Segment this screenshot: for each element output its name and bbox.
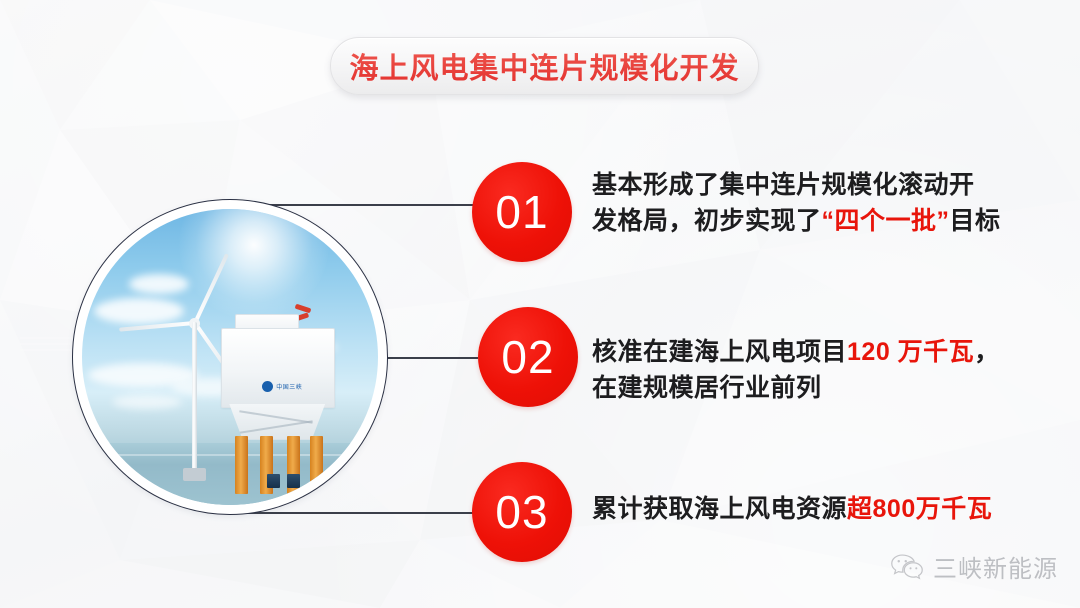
- plain-text: 基本形成了集中连片规模化滚动开: [592, 171, 975, 199]
- plain-text: 核准在建海上风电项目: [592, 338, 847, 366]
- page-title: 海上风电集中连片规模化开发: [349, 45, 739, 87]
- watermark: 三峡新能源: [890, 549, 1058, 584]
- wechat-icon: [890, 553, 924, 581]
- slide-title-pill: 海上风电集中连片规模化开发: [330, 37, 759, 95]
- offshore-wind-photo: 中国三峡: [72, 199, 388, 515]
- highlighted-text: 120 万千瓦: [847, 338, 974, 366]
- bullet-text-01: 基本形成了集中连片规模化滚动开发格局，初步实现了“四个一批”目标: [592, 168, 1001, 239]
- plain-text: 累计获取海上风电资源: [592, 495, 847, 523]
- connector-line-03: [232, 512, 477, 514]
- text-line: 累计获取海上风电资源超800万千瓦: [592, 492, 992, 528]
- plain-text: 在建规模居行业前列: [592, 374, 822, 402]
- text-line: 核准在建海上风电项目120 万千瓦，: [592, 335, 1000, 371]
- text-line: 基本形成了集中连片规模化滚动开: [592, 168, 1001, 204]
- slide-root: 海上风电集中连片规模化开发: [0, 0, 1080, 608]
- plain-text: 发格局，初步实现了: [592, 207, 822, 235]
- cloud-shape: [129, 274, 189, 294]
- bullet-text-02: 核准在建海上风电项目120 万千瓦，在建规模居行业前列: [592, 335, 1000, 406]
- plain-text: ，: [974, 338, 1000, 366]
- number-badge-01: 01: [472, 162, 572, 262]
- vessel-shape: [267, 474, 280, 488]
- offshore-platform: 中国三峡: [215, 304, 345, 484]
- logo-text: 中国三峡: [276, 382, 302, 391]
- bullet-text-03: 累计获取海上风电资源超800万千瓦: [592, 492, 992, 528]
- number-badge-02: 02: [478, 307, 578, 407]
- vessel-shape: [287, 474, 300, 488]
- number-badge-03: 03: [472, 462, 572, 562]
- logo-mark-icon: [262, 381, 273, 392]
- company-logo: 中国三峡: [262, 381, 302, 392]
- text-line: 发格局，初步实现了“四个一批”目标: [592, 204, 1001, 240]
- watermark-label: 三峡新能源: [933, 549, 1058, 584]
- plain-text: 目标: [950, 207, 1001, 235]
- badge-number: 03: [495, 489, 548, 535]
- connector-line-02: [378, 357, 478, 359]
- photo-canvas: 中国三峡: [82, 209, 378, 505]
- badge-number: 02: [501, 334, 554, 380]
- text-line: 在建规模居行业前列: [592, 371, 1000, 407]
- badge-number: 01: [495, 189, 548, 235]
- highlighted-text: 超800万千瓦: [847, 495, 992, 523]
- highlighted-text: “四个一批”: [822, 207, 950, 235]
